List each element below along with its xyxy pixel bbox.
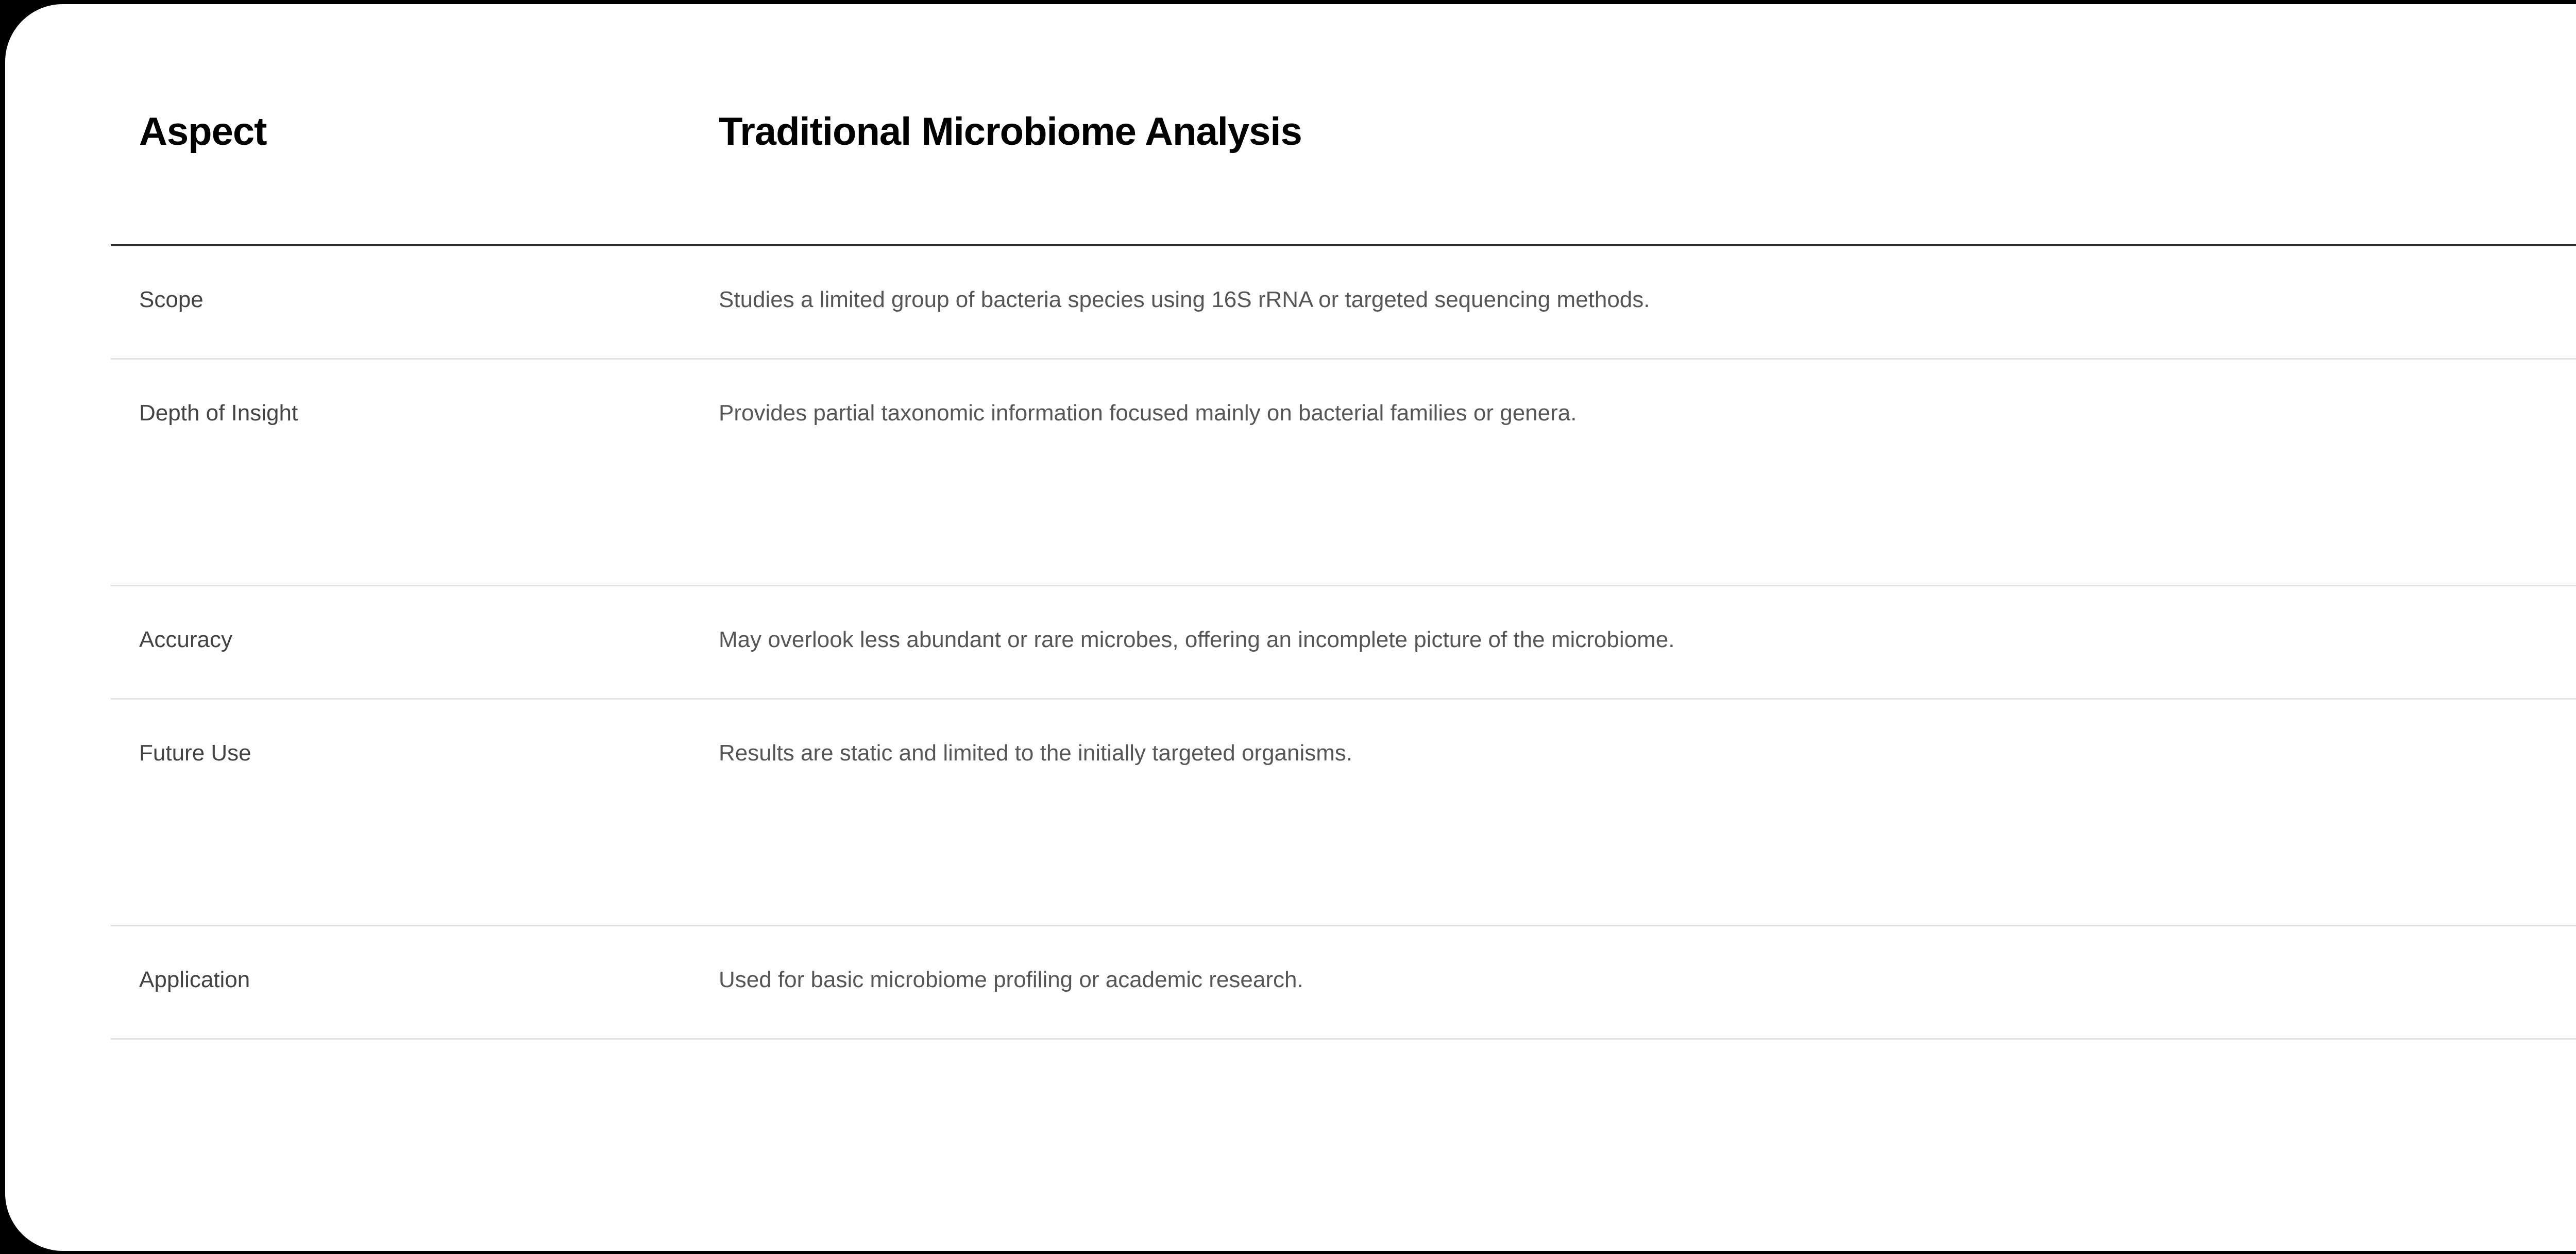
row-traditional-value: Provides partial taxonomic information f… <box>719 360 2576 427</box>
row-traditional-value: May overlook less abundant or rare micro… <box>719 586 2576 654</box>
table-row: Depth of InsightProvides partial taxonom… <box>111 360 2576 586</box>
row-aspect-label: Application <box>111 926 719 994</box>
table-row: Future UseResults are static and limited… <box>111 700 2576 926</box>
row-traditional-value: Used for basic microbiome profiling or a… <box>719 926 2576 994</box>
row-aspect-label: Depth of Insight <box>111 360 719 427</box>
table-row: ScopeStudies a limited group of bacteria… <box>111 246 2576 360</box>
table-body: ScopeStudies a limited group of bacteria… <box>111 246 2576 1040</box>
row-aspect-label: Future Use <box>111 700 719 767</box>
comparison-table-card: Aspect Traditional Microbiome Analysis S… <box>5 4 2576 1251</box>
table-row: ApplicationUsed for basic microbiome pro… <box>111 926 2576 1040</box>
comparison-table: Aspect Traditional Microbiome Analysis S… <box>111 4 2576 1040</box>
column-header-traditional: Traditional Microbiome Analysis <box>719 95 2576 154</box>
row-aspect-label: Scope <box>111 246 719 314</box>
row-traditional-value: Results are static and limited to the in… <box>719 700 2576 767</box>
column-header-aspect: Aspect <box>111 95 719 154</box>
table-header-row: Aspect Traditional Microbiome Analysis <box>111 4 2576 246</box>
table-row: AccuracyMay overlook less abundant or ra… <box>111 586 2576 700</box>
row-traditional-value: Studies a limited group of bacteria spec… <box>719 246 2576 314</box>
row-aspect-label: Accuracy <box>111 586 719 654</box>
